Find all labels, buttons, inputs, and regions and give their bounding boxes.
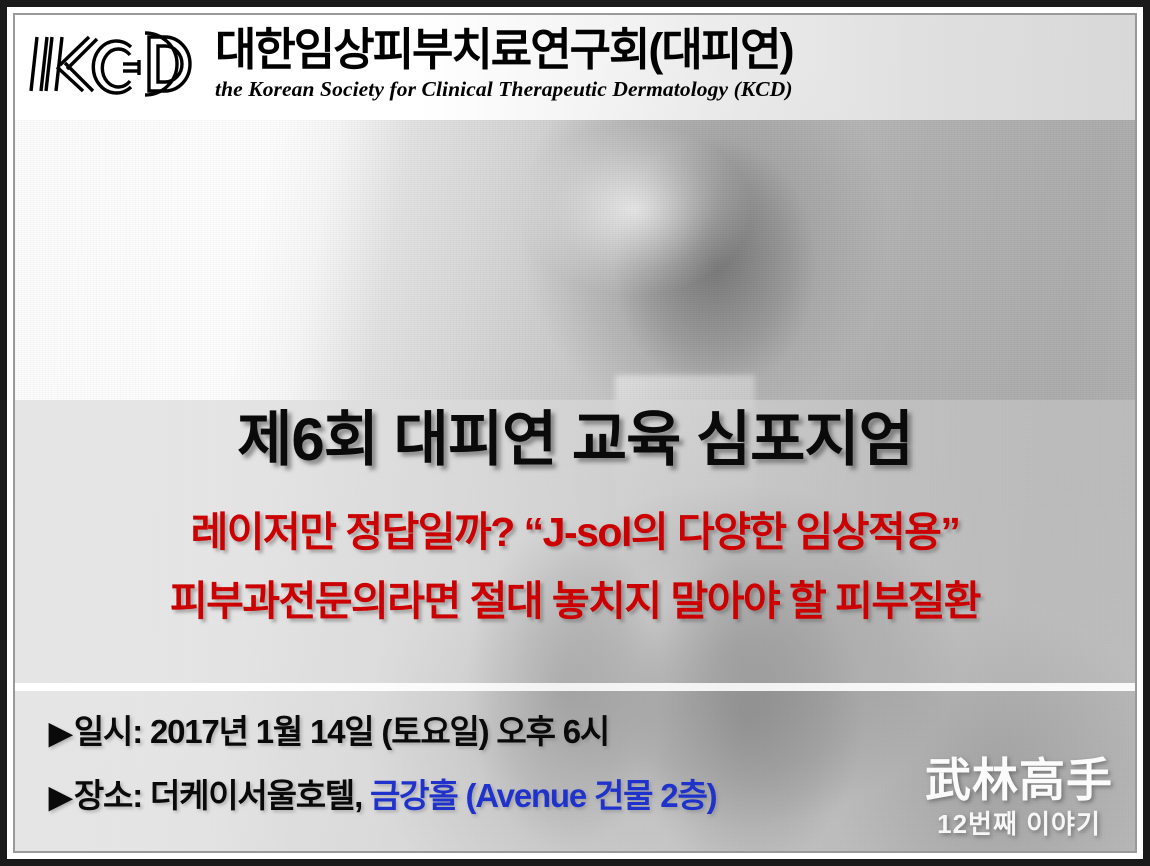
event-poster: 대한임상피부치료연구회(대피연) the Korean Society for … bbox=[0, 0, 1150, 866]
poster-frame-inner-line bbox=[13, 13, 1137, 853]
